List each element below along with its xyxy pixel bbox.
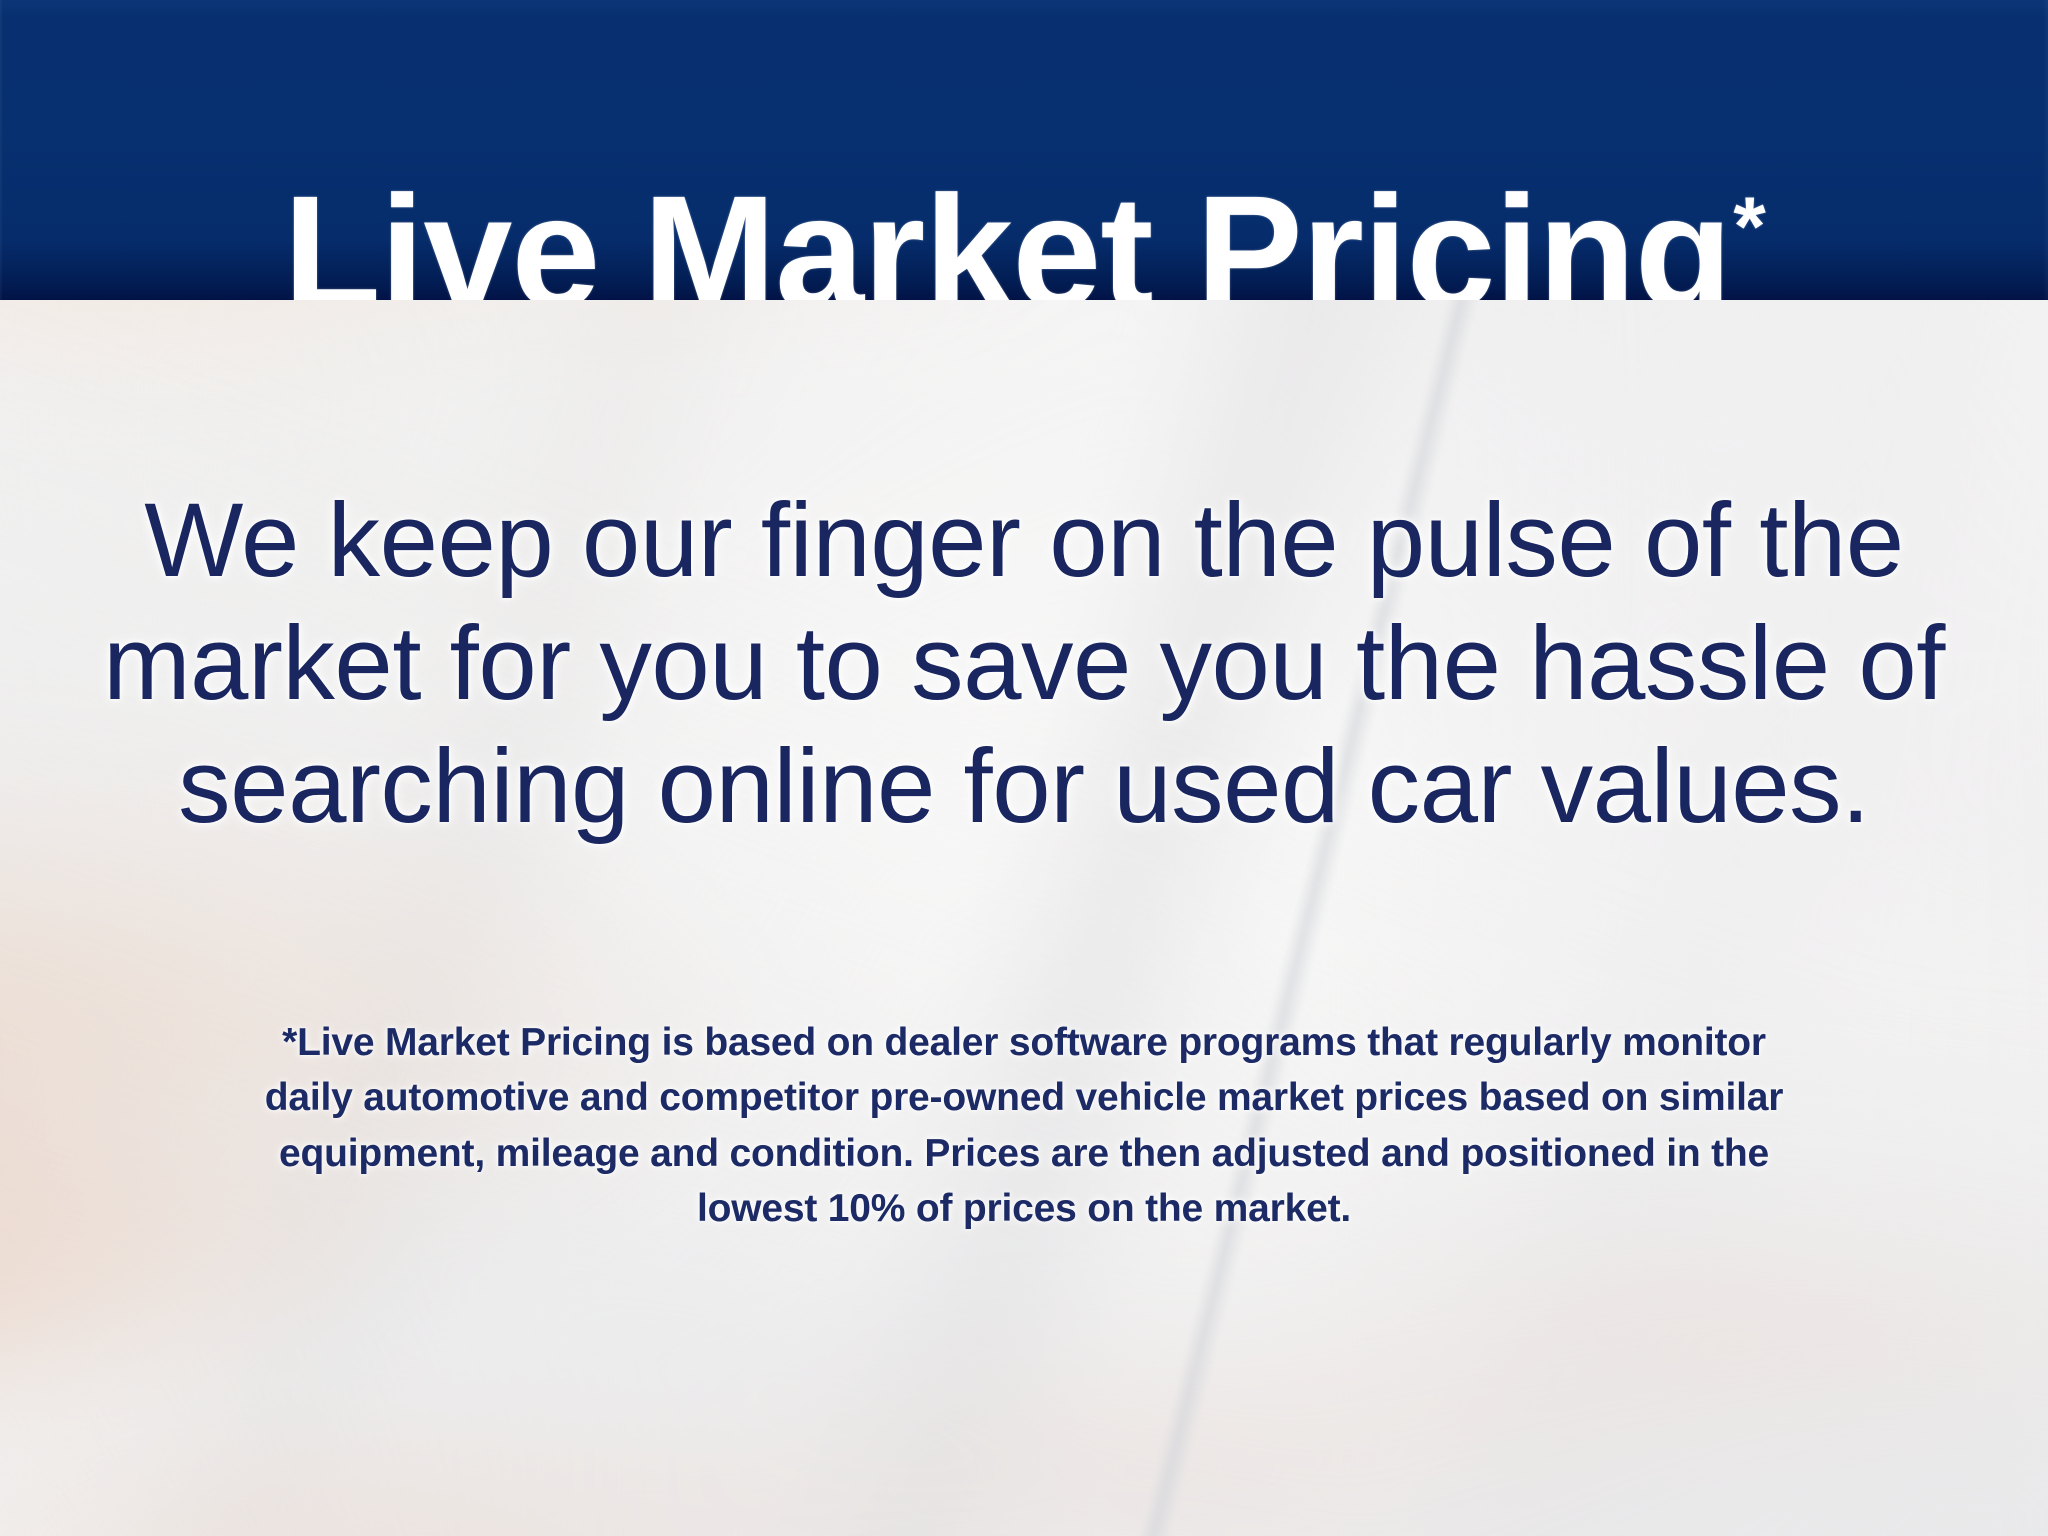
fineprint-line-1: *Live Market Pricing is based on dealer … [0, 1015, 2048, 1070]
fineprint-line-4: lowest 10% of prices on the market. [0, 1181, 2048, 1236]
headline: We keep our finger on the pulse of the m… [0, 480, 2048, 849]
headline-line-1: We keep our finger on the pulse of the [0, 480, 2048, 603]
header-band: Live Market Pricing* [0, 0, 2048, 300]
fineprint-line-3: equipment, mileage and condition. Prices… [0, 1126, 2048, 1181]
headline-line-2: market for you to save you the hassle of [0, 603, 2048, 726]
fineprint-disclaimer: *Live Market Pricing is based on dealer … [0, 1015, 2048, 1237]
page-title: Live Market Pricing* [0, 107, 2048, 300]
page-title-text: Live Market Pricing [283, 172, 1731, 300]
live-market-pricing-banner: Live Market Pricing* We keep our finger … [0, 0, 2048, 1536]
headline-line-3: searching online for used car values. [0, 726, 2048, 849]
content-area: We keep our finger on the pulse of the m… [0, 300, 2048, 1536]
fineprint-line-2: daily automotive and competitor pre-owne… [0, 1070, 2048, 1125]
